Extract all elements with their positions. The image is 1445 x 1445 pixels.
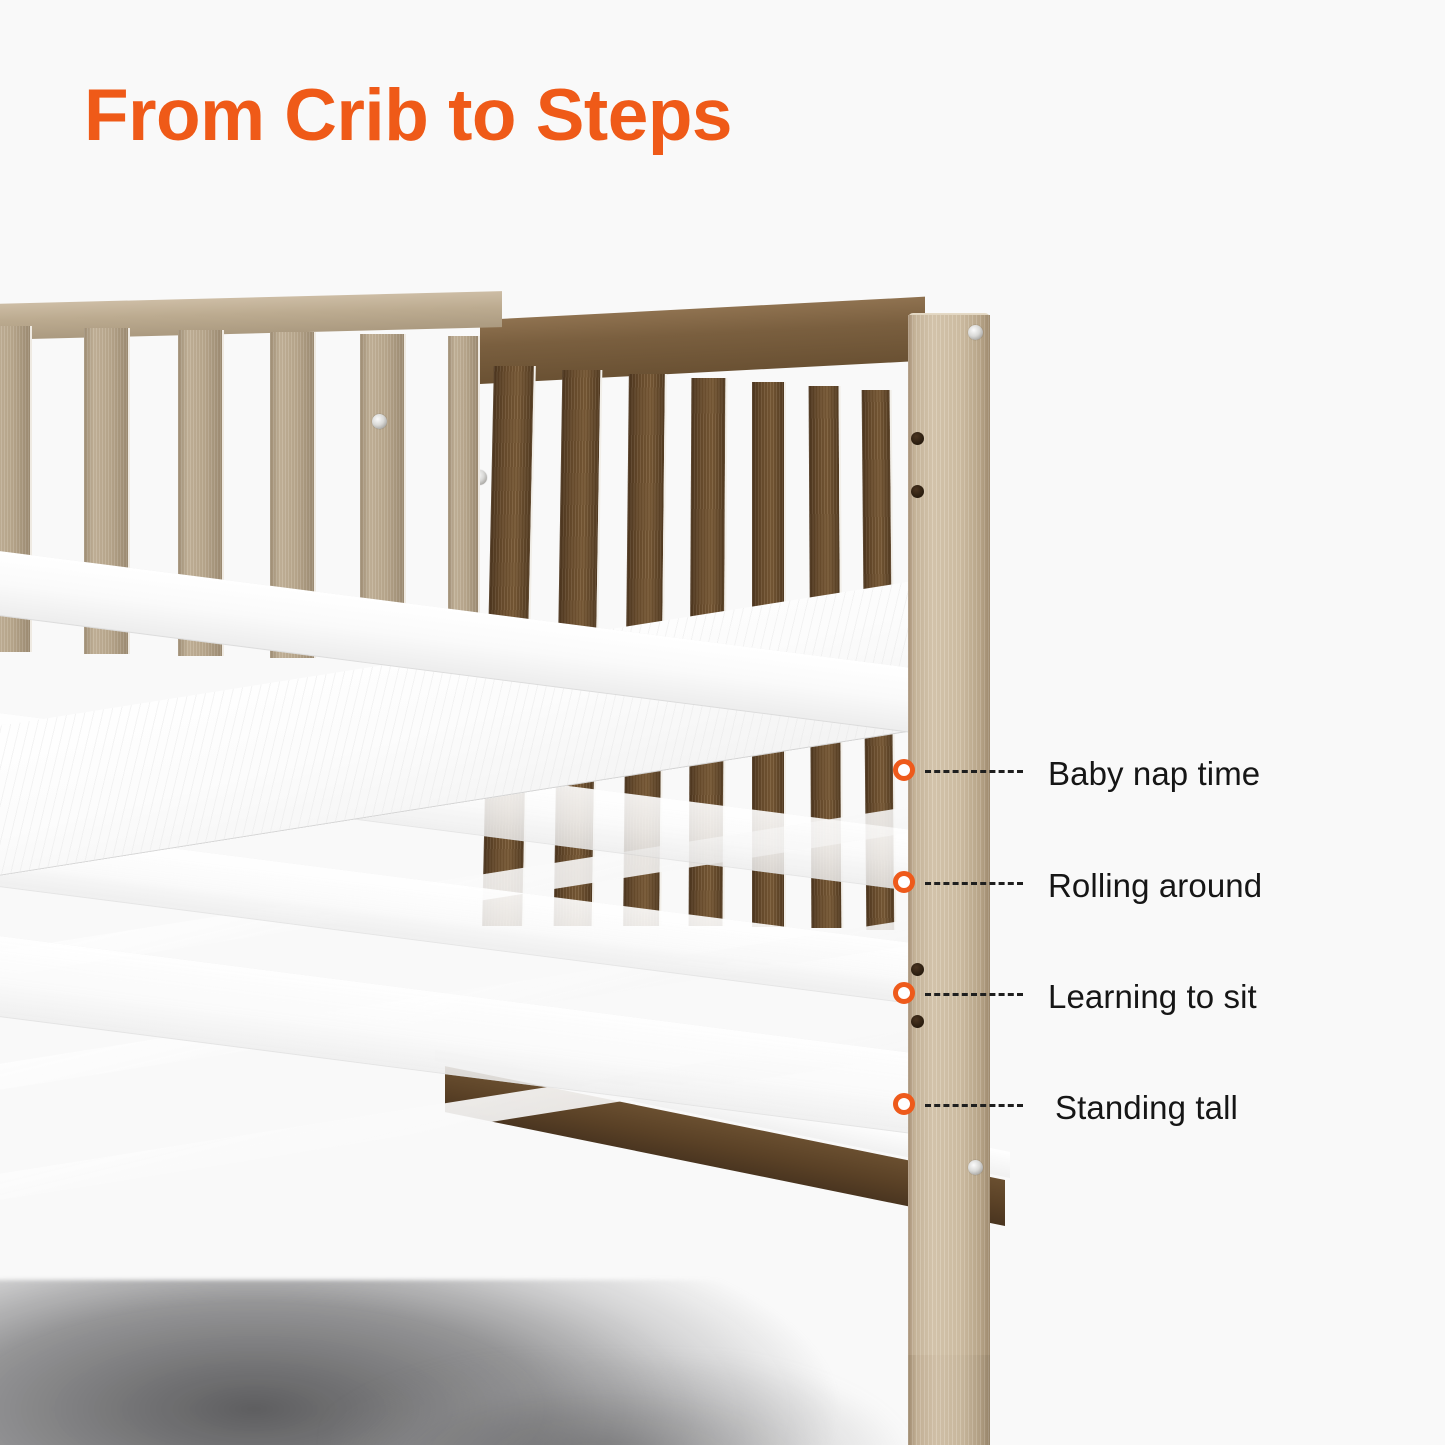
crib-corner-post-leg bbox=[908, 1355, 990, 1445]
callout-marker[interactable] bbox=[893, 982, 915, 1004]
floor-shadow-soft bbox=[330, 1360, 950, 1445]
screw-icon bbox=[372, 414, 387, 429]
adjust-hole-icon bbox=[911, 1015, 924, 1028]
adjust-hole-icon bbox=[911, 485, 924, 498]
infographic-canvas: From Crib to Steps bbox=[0, 0, 1445, 1445]
callout-label: Rolling around bbox=[1048, 867, 1262, 905]
callout-leader-line bbox=[925, 770, 1023, 773]
screw-icon bbox=[968, 325, 983, 340]
callout-label: Learning to sit bbox=[1048, 978, 1257, 1016]
page-title: From Crib to Steps bbox=[84, 78, 732, 155]
callout-leader-line bbox=[925, 882, 1023, 885]
callout-leader-line bbox=[925, 993, 1023, 996]
callout-marker[interactable] bbox=[893, 1093, 915, 1115]
screw-icon bbox=[968, 1160, 983, 1175]
callout-marker[interactable] bbox=[893, 759, 915, 781]
callout-marker[interactable] bbox=[893, 871, 915, 893]
crib-front-top-rail bbox=[0, 291, 502, 340]
callout-label: Standing tall bbox=[1055, 1089, 1238, 1127]
adjust-hole-icon bbox=[911, 432, 924, 445]
product-photo bbox=[0, 280, 1445, 1445]
crib-corner-post bbox=[908, 315, 990, 1360]
callout-leader-line bbox=[925, 1104, 1023, 1107]
adjust-hole-icon bbox=[911, 963, 924, 976]
crib-side-top-rail bbox=[480, 297, 925, 384]
callout-label: Baby nap time bbox=[1048, 755, 1260, 793]
